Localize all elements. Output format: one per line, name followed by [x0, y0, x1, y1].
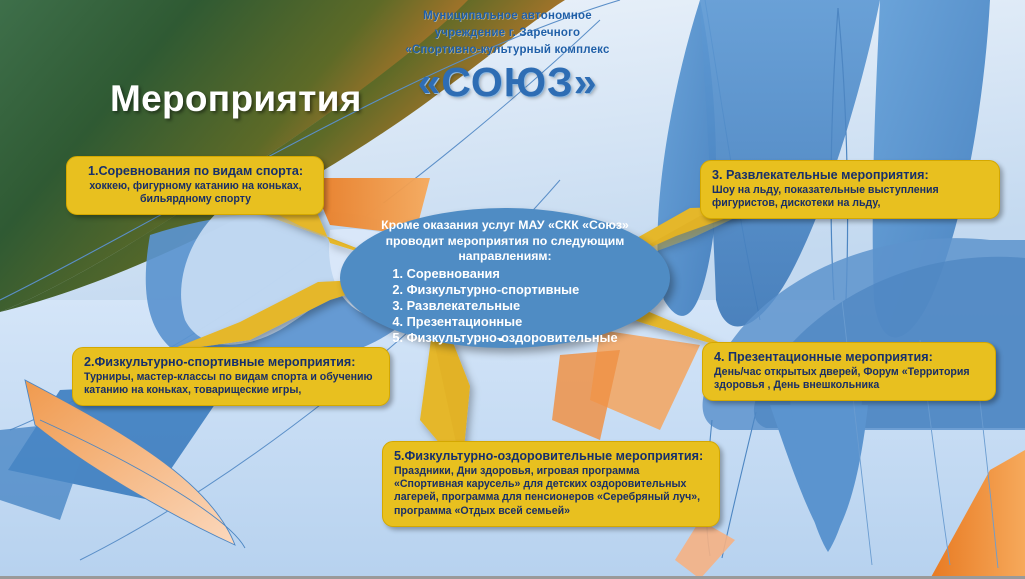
callout-4-head: 4. Презентационные мероприятия: — [714, 350, 985, 365]
callout-competitions[interactable]: 1.Соревнования по видам спорта: хоккею, … — [66, 156, 324, 215]
logo-line-2: учреждение г. Заречного — [395, 25, 620, 42]
ellipse-dot-marker — [499, 338, 502, 341]
callout-1-head: 1.Соревнования по видам спорта: — [78, 164, 313, 179]
ellipse-direction-list: 1. Соревнования 2. Физкультурно-спортивн… — [392, 266, 617, 347]
ellipse-direction-1: 1. Соревнования — [392, 266, 617, 282]
ellipse-direction-2: 2. Физкультурно-спортивные — [392, 282, 617, 298]
callout-3-body: Шоу на льду, показательные выступления ф… — [712, 184, 989, 210]
logo-name: «СОЮЗ» — [395, 61, 620, 103]
callout-5-body: Праздники, Дни здоровья, игровая програм… — [394, 465, 709, 518]
ellipse-direction-3: 3. Развлекательные — [392, 298, 617, 314]
callout-2-head: 2.Физкультурно-спортивные мероприятия: — [84, 355, 379, 370]
callout-entertainment[interactable]: 3. Развлекательные мероприятия: Шоу на л… — [700, 160, 1000, 219]
logo-line-3: «Спортивно-культурный комплекс — [395, 42, 620, 59]
callout-presentation[interactable]: 4. Презентационные мероприятия: День/час… — [702, 342, 996, 401]
ellipse-intro: Кроме оказания услуг МАУ «СКК «Союз» про… — [340, 218, 670, 265]
callout-1-body: хоккею, фигурному катанию на коньках, би… — [78, 180, 313, 206]
callout-5-head: 5.Физкультурно-оздоровительные мероприят… — [394, 449, 709, 464]
ellipse-intro-line-3: направлениям: — [360, 249, 650, 265]
callout-2-body: Турниры, мастер-классы по видам спорта и… — [84, 371, 379, 397]
slide-canvas: Муниципальное автономное учреждение г. З… — [0, 0, 1025, 579]
callout-3-head: 3. Развлекательные мероприятия: — [712, 168, 989, 183]
ellipse-intro-line-2: проводит мероприятия по следующим — [360, 234, 650, 250]
central-ellipse: Кроме оказания услуг МАУ «СКК «Союз» про… — [340, 208, 670, 348]
callout-health-fitness[interactable]: 5.Физкультурно-оздоровительные мероприят… — [382, 441, 720, 527]
ellipse-direction-4: 4. Презентационные — [392, 314, 617, 330]
ellipse-direction-5: 5. Физкультурно-оздоровительные — [392, 330, 617, 346]
organization-logo: Муниципальное автономное учреждение г. З… — [395, 8, 620, 103]
callout-4-body: День/час открытых дверей, Форум «Террито… — [714, 366, 985, 392]
ellipse-intro-line-1: Кроме оказания услуг МАУ «СКК «Союз» — [360, 218, 650, 234]
page-title: Мероприятия — [110, 78, 362, 120]
logo-line-1: Муниципальное автономное — [395, 8, 620, 25]
callout-sports-fitness[interactable]: 2.Физкультурно-спортивные мероприятия: Т… — [72, 347, 390, 406]
